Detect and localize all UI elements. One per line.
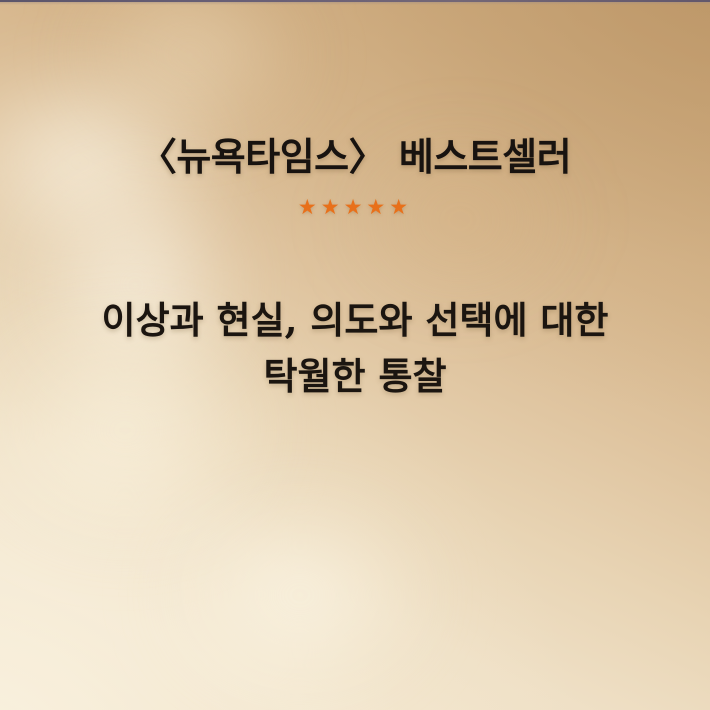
poster-subtitle: 이상과 현실, 의도와 선택에 대한 탁월한 통찰 bbox=[0, 292, 710, 404]
book-promo-poster: 〈뉴욕타임스〉 베스트셀러 ★★★★★ 이상과 현실, 의도와 선택에 대한 탁… bbox=[0, 0, 710, 710]
subtitle-line-2: 탁월한 통찰 bbox=[0, 348, 710, 404]
poster-content: 〈뉴욕타임스〉 베스트셀러 ★★★★★ 이상과 현실, 의도와 선택에 대한 탁… bbox=[0, 0, 710, 710]
star-rating: ★★★★★ bbox=[0, 197, 710, 218]
bestseller-headline: 〈뉴욕타임스〉 베스트셀러 bbox=[0, 134, 710, 182]
subtitle-line-1: 이상과 현실, 의도와 선택에 대한 bbox=[0, 292, 710, 348]
star-icon: ★★★★★ bbox=[298, 197, 412, 218]
